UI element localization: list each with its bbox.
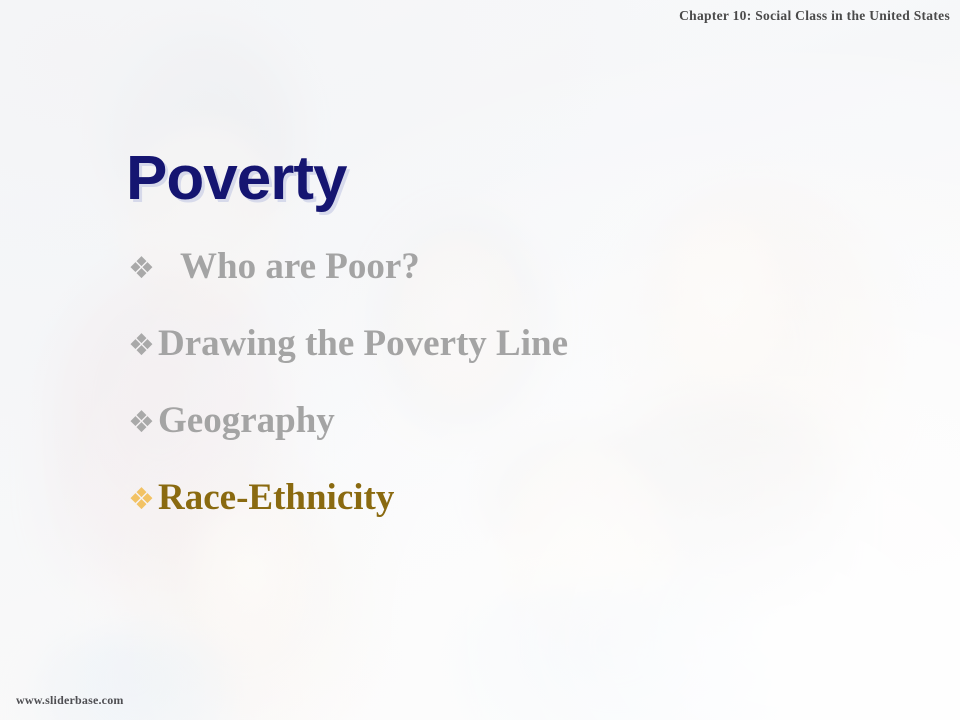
list-item-label: Drawing the Poverty Line bbox=[158, 325, 568, 364]
list-item[interactable]: ❖ Drawing the Poverty Line bbox=[128, 325, 908, 364]
list-item[interactable]: ❖ Who are Poor? bbox=[128, 248, 908, 287]
list-item-label: Who are Poor? bbox=[158, 248, 420, 287]
page-title: Poverty bbox=[126, 143, 346, 214]
diamond-bullet-icon: ❖ bbox=[128, 331, 158, 361]
source-watermark: www.sliderbase.com bbox=[16, 693, 124, 708]
list-item-highlighted[interactable]: ❖ Race-Ethnicity bbox=[128, 479, 908, 518]
list-item-label: Geography bbox=[158, 402, 335, 441]
presentation-slide: Chapter 10: Social Class in the United S… bbox=[0, 0, 960, 720]
diamond-bullet-icon: ❖ bbox=[128, 408, 158, 438]
chapter-header: Chapter 10: Social Class in the United S… bbox=[679, 8, 950, 24]
diamond-bullet-icon: ❖ bbox=[128, 485, 158, 515]
bullet-list: ❖ Who are Poor? ❖ Drawing the Poverty Li… bbox=[128, 248, 908, 555]
list-item-label: Race-Ethnicity bbox=[158, 479, 394, 518]
list-item[interactable]: ❖ Geography bbox=[128, 402, 908, 441]
diamond-bullet-icon: ❖ bbox=[128, 254, 158, 284]
